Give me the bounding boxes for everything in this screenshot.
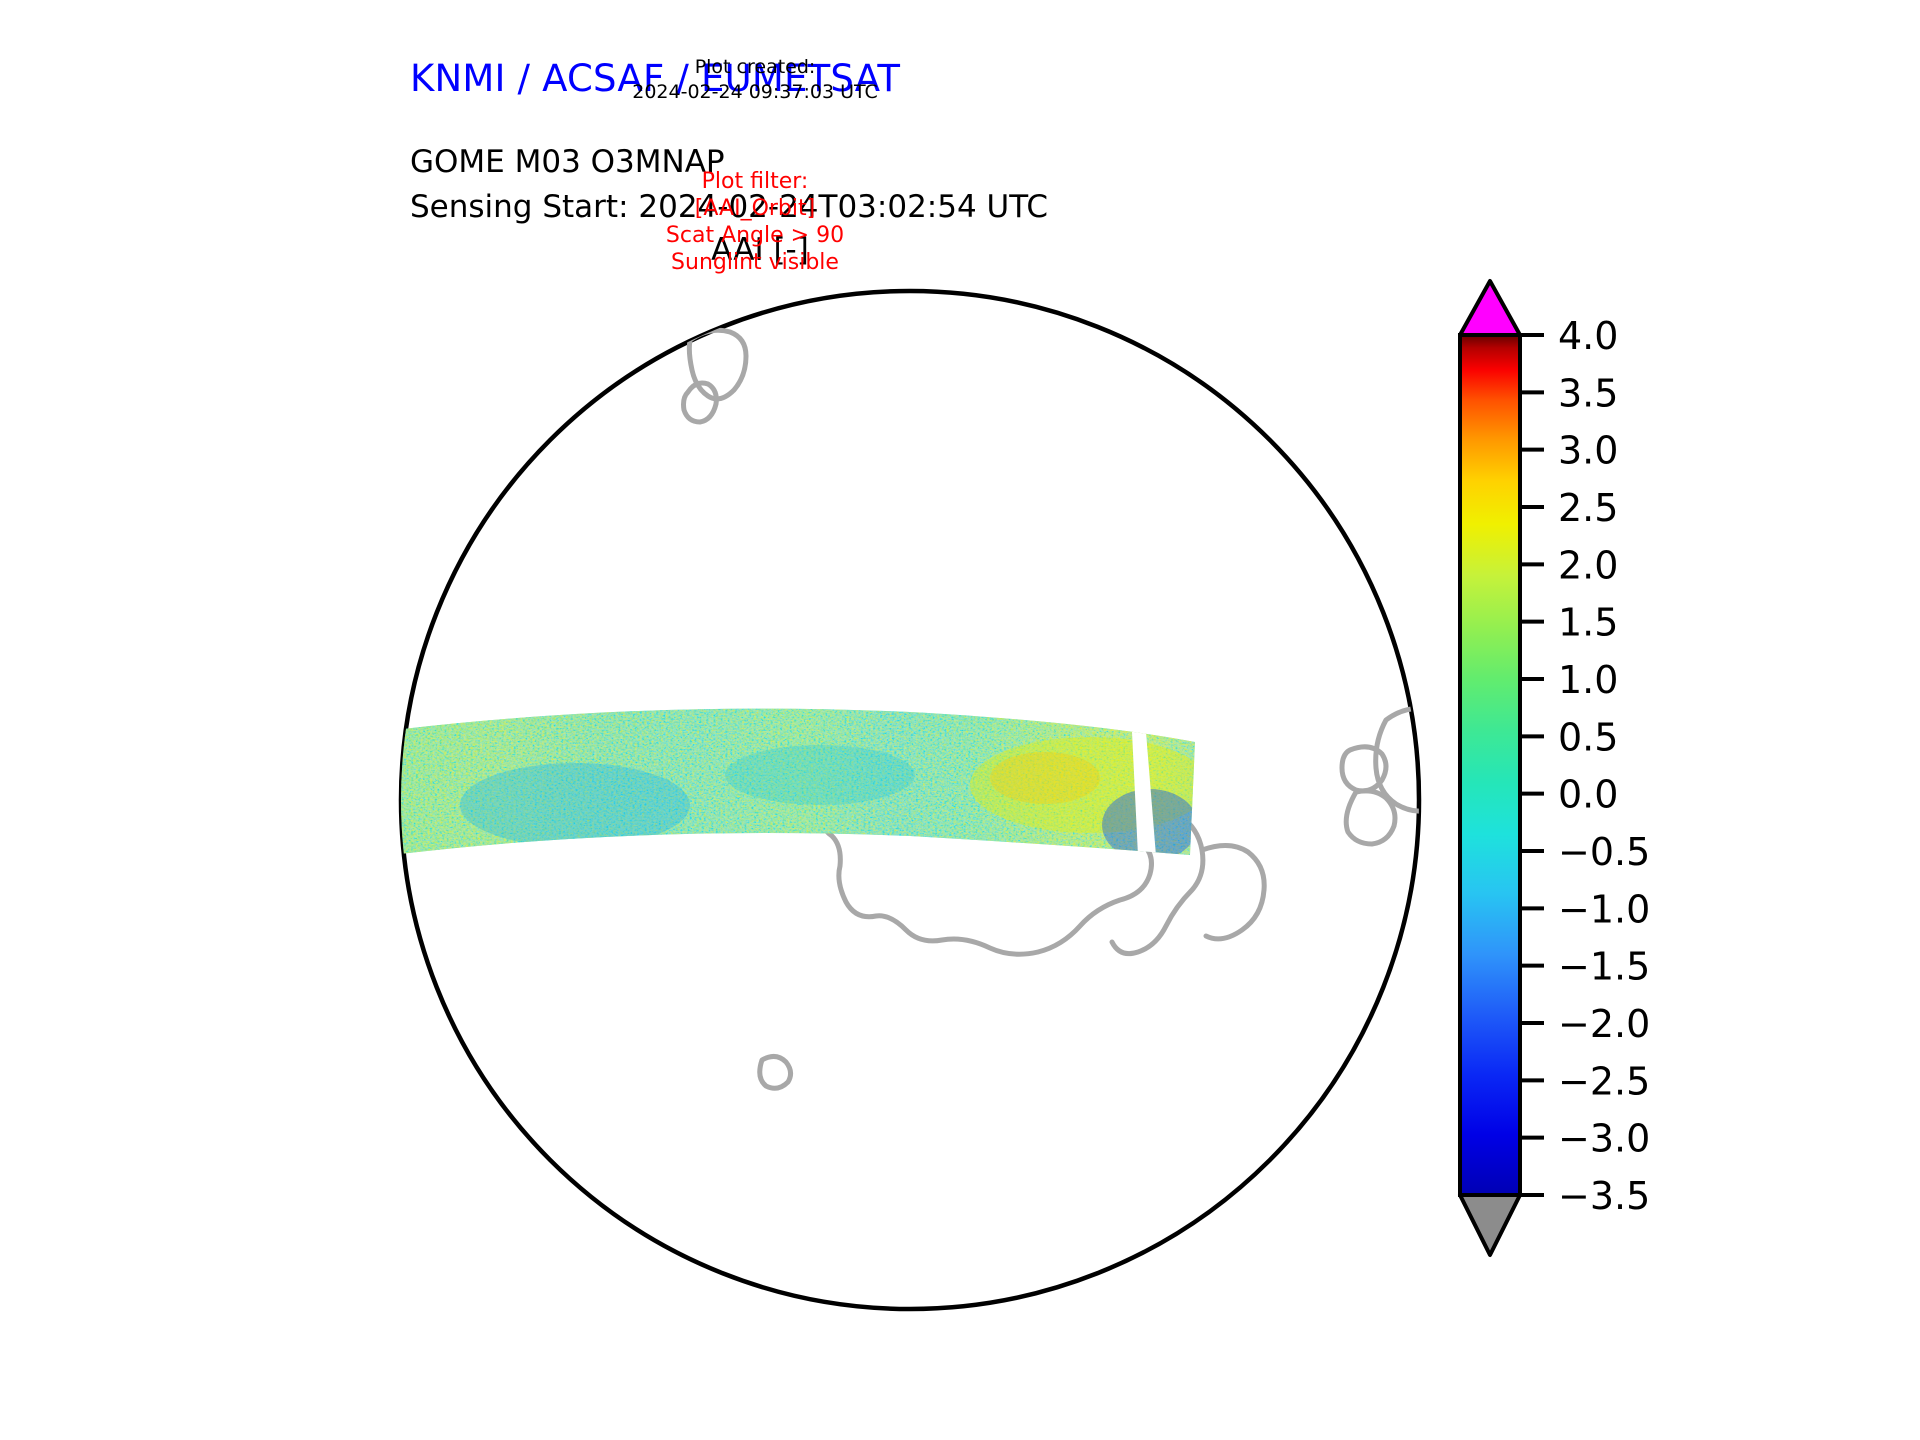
coastline-island-small-b [498, 326, 544, 362]
colorbar-over-arrow [1460, 281, 1520, 335]
colorbar-tick-label: −3.0 [1558, 1117, 1650, 1161]
swath-warm-patch-b [990, 752, 1100, 804]
plot-created-timestamp: 2024-02-24 09:37:03 UTC [545, 80, 965, 105]
globe-projection [390, 280, 1430, 1320]
colorbar-tick-label: −2.5 [1558, 1059, 1650, 1103]
colorbar-tick-label: −3.5 [1558, 1174, 1650, 1218]
plot-created-label: Plot created: [545, 55, 965, 80]
colorbar-tick-label: −2.0 [1558, 1002, 1650, 1046]
colorbar-tick-label: 2.0 [1558, 543, 1618, 587]
colorbar-tick-label: 4.0 [1558, 314, 1618, 358]
colorbar-tick-label: −1.5 [1558, 945, 1650, 989]
colorbar-tick-label: 0.0 [1558, 773, 1618, 817]
plot-created-block: Plot created: 2024-02-24 09:37:03 UTC [545, 55, 965, 105]
colorbar-svg: 4.03.53.02.52.01.51.00.50.0−0.5−1.0−1.5−… [1440, 275, 1860, 1335]
swath-cool-patch-b [725, 745, 915, 805]
colorbar-under-arrow [1460, 1195, 1520, 1255]
plot-filter-sunglint: Sunglint visible [545, 249, 965, 276]
colorbar-tick-label: 0.5 [1558, 715, 1618, 759]
colorbar-tick-label: 1.0 [1558, 658, 1618, 702]
colorbar: 4.03.53.02.52.01.51.00.50.0−0.5−1.0−1.5−… [1440, 275, 1860, 1335]
coastline-island-small-a [534, 363, 577, 403]
colorbar-tick-label: 2.5 [1558, 486, 1618, 530]
colorbar-tick-label: 1.5 [1558, 601, 1618, 645]
colorbar-tick-label: 3.0 [1558, 429, 1618, 473]
map-canvas [390, 280, 1430, 1320]
plot-filter-label: Plot filter: [545, 168, 965, 195]
colorbar-tick-label: −0.5 [1558, 830, 1650, 874]
colorbar-ticks: 4.03.53.02.52.01.51.00.50.0−0.5−1.0−1.5−… [1520, 314, 1650, 1218]
plot-filter-scat-angle: Scat Angle > 90 [545, 222, 965, 249]
colorbar-tick-label: −1.0 [1558, 887, 1650, 931]
colorbar-gradient [1460, 335, 1520, 1195]
colorbar-tick-label: 3.5 [1558, 371, 1618, 415]
plot-filter-block: Plot filter: [AAI_Orbit] Scat Angle > 90… [545, 168, 965, 276]
plot-filter-name: [AAI_Orbit] [545, 195, 965, 222]
swath-cool-patch [460, 763, 690, 847]
